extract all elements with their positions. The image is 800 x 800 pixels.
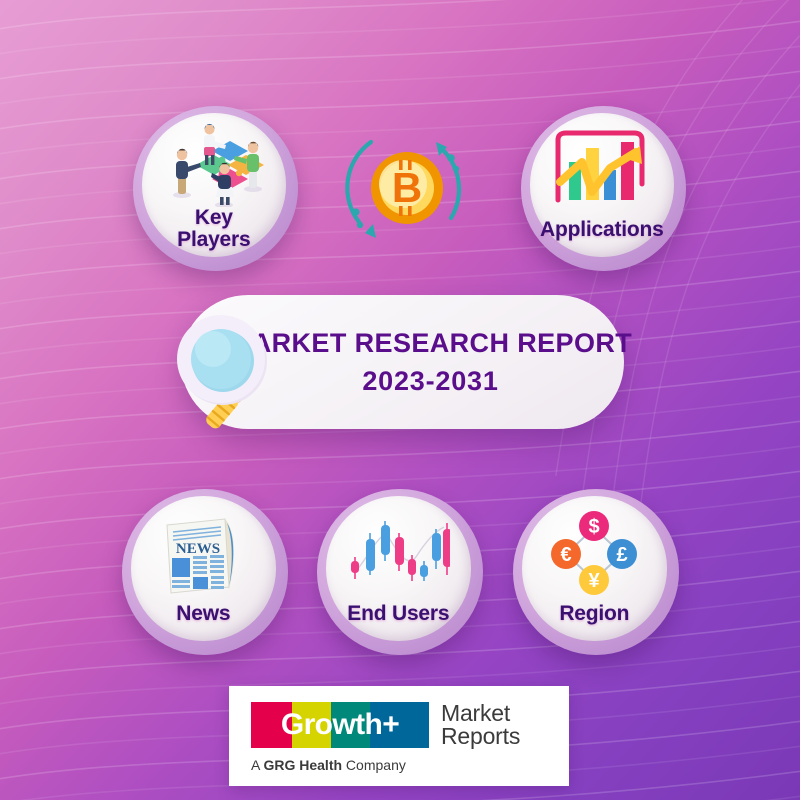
currency-exchange-icon: $ € £ ¥ [522,496,666,602]
svg-text:NEWS: NEWS [176,541,220,557]
growth-plus-text: Growth+ [251,702,429,748]
badge-disc: NEWS [131,496,275,640]
badge-applications[interactable]: Applications [521,106,686,271]
svg-text:¥: ¥ [589,570,601,592]
badge-label: Applications [540,219,664,257]
poster-canvas: Key Players B [0,0,800,800]
logo-top-row: Growth+ Market Reports [251,702,569,748]
svg-text:$: $ [589,516,600,538]
svg-text:B: B [392,164,422,211]
tagline-suffix: Company [342,757,406,773]
tagline-prefix: A [251,757,263,773]
brand-line-market: Market [441,702,520,725]
badge-disc: Key Players [142,113,286,257]
badge-end-users[interactable]: End Users [317,489,483,655]
badge-label: Region [559,603,629,641]
badge-disc: $ € £ ¥ Region [522,496,666,640]
growth-wordmark: Growth+ [251,702,429,748]
badge-label: News [176,603,230,641]
page-title: MARKET RESEARCH REPORT [229,328,632,359]
svg-text:€: € [561,544,572,566]
badge-label: Key Players [177,207,250,261]
tagline-company: GRG Health [263,757,342,773]
badge-label: End Users [347,603,449,641]
brand-line-reports: Reports [441,725,520,748]
badge-region[interactable]: $ € £ ¥ Region [513,489,679,655]
badge-disc: End Users [326,496,470,640]
bar-chart-growth-icon [530,113,674,219]
svg-text:£: £ [617,544,628,566]
title-banner: MARKET RESEARCH REPORT 2023-2031 [181,295,624,429]
people-puzzle-icon [142,113,286,207]
title-year-range: 2023-2031 [362,366,498,397]
bitcoin-coin-icon: B [333,116,481,264]
candlestick-chart-icon [326,496,470,602]
growth-text: Growth [281,708,382,742]
badge-bitcoin[interactable]: B [333,116,481,264]
logo-tagline: A GRG Health Company [251,757,569,773]
plus-symbol: + [382,708,399,742]
badge-news[interactable]: NEWS [122,489,288,655]
badge-key-players[interactable]: Key Players [133,106,298,271]
brand-logo[interactable]: Growth+ Market Reports A GRG Health Comp… [229,686,569,786]
market-reports-wordmark: Market Reports [441,702,520,748]
newspaper-icon: NEWS [131,496,275,602]
badge-disc: Applications [530,113,674,257]
